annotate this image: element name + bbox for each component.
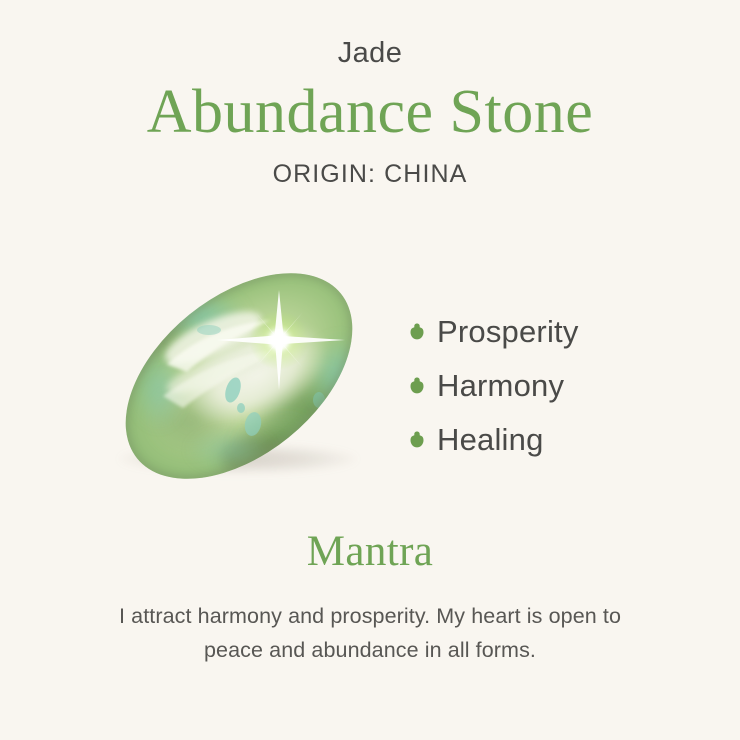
- page-title: Abundance Stone: [0, 78, 740, 147]
- card-header: Jade Abundance Stone ORIGIN: CHINA: [0, 0, 740, 189]
- jade-stone-illustration: [105, 272, 373, 480]
- gem-bullet-icon: [410, 323, 424, 340]
- stone-type-eyebrow: Jade: [0, 38, 740, 70]
- gem-bullet-icon: [410, 377, 424, 394]
- property-label: Harmony: [437, 370, 564, 401]
- origin-label: ORIGIN: CHINA: [0, 161, 740, 189]
- mantra-title: Mantra: [0, 527, 740, 576]
- properties-list: Prosperity Harmony Healing: [410, 304, 710, 466]
- list-item: Healing: [410, 412, 710, 466]
- stone-and-properties-section: Prosperity Harmony Healing: [0, 248, 740, 506]
- jade-stone-card: Jade Abundance Stone ORIGIN: CHINA: [0, 0, 740, 740]
- property-label: Healing: [437, 424, 544, 455]
- stone-illustration-wrap: [78, 248, 398, 506]
- mantra-section: Mantra I attract harmony and prosperity.…: [0, 527, 740, 667]
- mantra-text: I attract harmony and prosperity. My hea…: [100, 600, 640, 667]
- list-item: Prosperity: [410, 304, 710, 358]
- list-item: Harmony: [410, 358, 710, 412]
- property-label: Prosperity: [437, 316, 579, 347]
- gem-bullet-icon: [410, 431, 424, 448]
